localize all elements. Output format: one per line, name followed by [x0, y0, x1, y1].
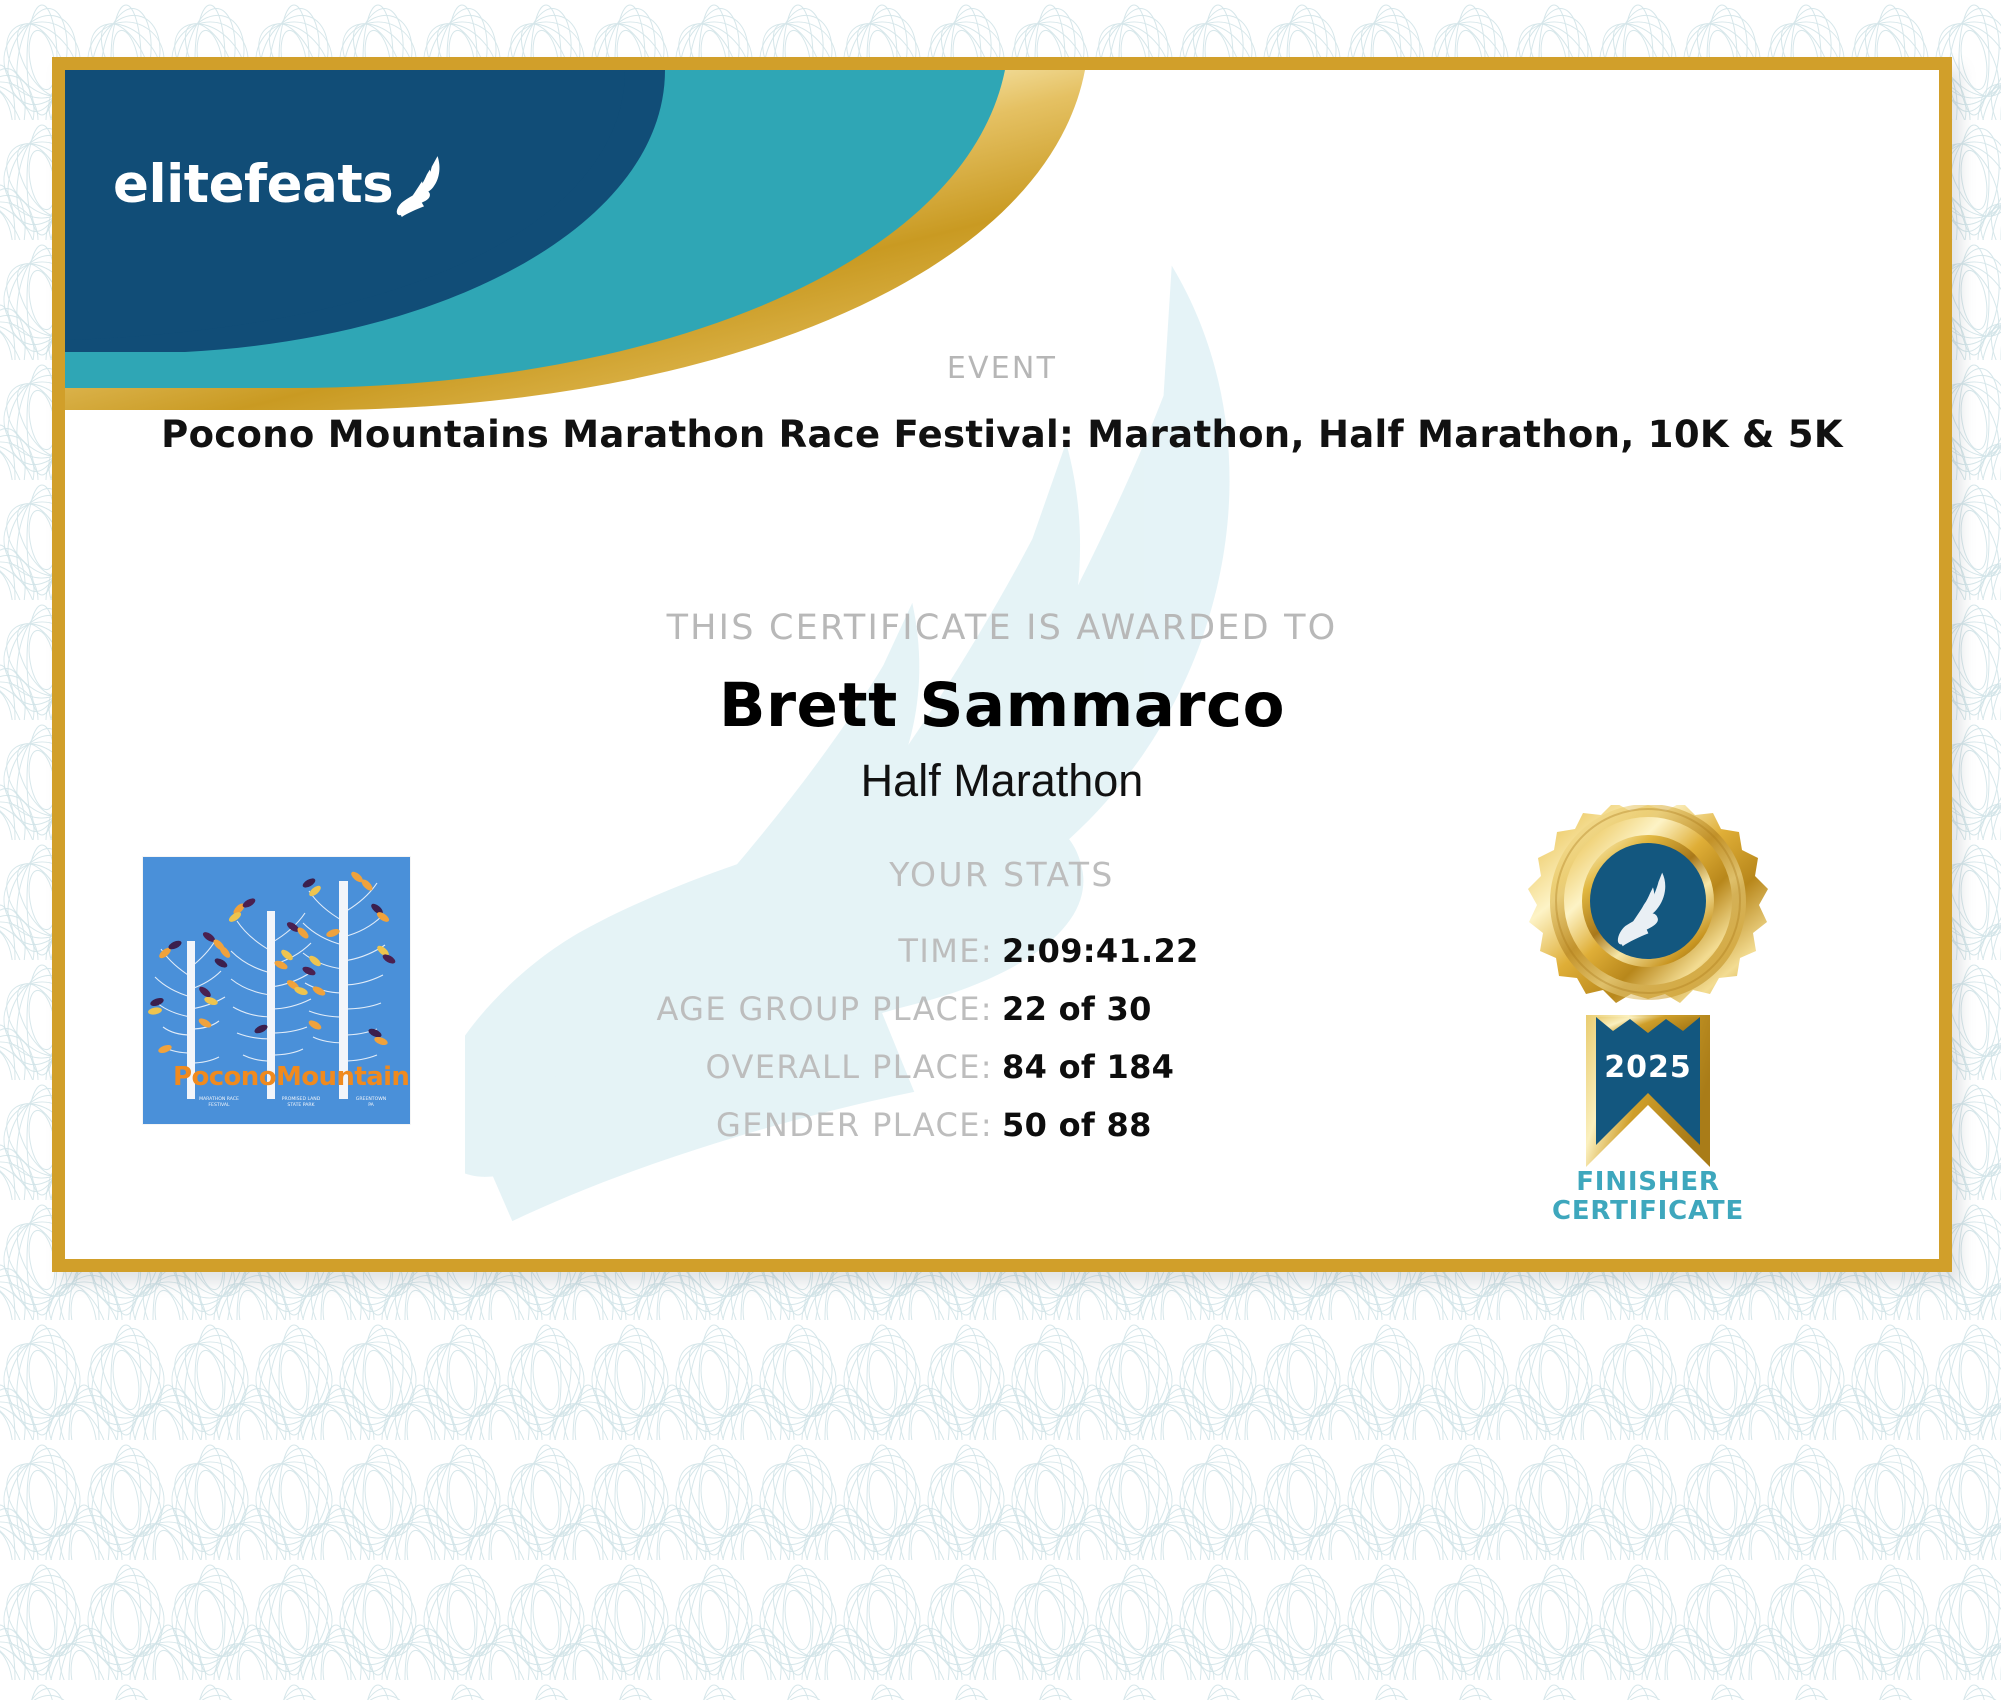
svg-text:GREENTOWN: GREENTOWN: [356, 1096, 386, 1102]
svg-text:PROMISED LAND: PROMISED LAND: [282, 1096, 321, 1102]
certificate-frame: elitefeats EVEN: [52, 57, 1952, 1272]
certificate-page: elitefeats EVEN: [0, 0, 2001, 1700]
brand-logo: elitefeats: [113, 148, 453, 220]
recipient-race-category: Half Marathon: [65, 755, 1939, 807]
brand-name: elitefeats: [113, 158, 393, 211]
badge-caption-line-1: FINISHER: [1495, 1168, 1801, 1197]
finisher-badge: 2025: [1508, 805, 1788, 1205]
svg-text:MARATHON RACE: MARATHON RACE: [199, 1096, 239, 1102]
svg-text:STATE PARK: STATE PARK: [287, 1102, 315, 1108]
svg-text:PoconoMountains: PoconoMountains: [173, 1062, 410, 1092]
event-label: EVENT: [65, 351, 1939, 386]
svg-text:PA: PA: [368, 1102, 374, 1108]
badge-year-text: 2025: [1604, 1050, 1692, 1085]
badge-caption-line-2: CERTIFICATE: [1495, 1197, 1801, 1226]
recipient-name: Brett Sammarco: [65, 670, 1939, 741]
certificate-content: EVENT Pocono Mountains Marathon Race Fes…: [65, 70, 1939, 1259]
svg-text:FESTIVAL: FESTIVAL: [208, 1102, 230, 1108]
awarded-to-label: THIS CERTIFICATE IS AWARDED TO: [65, 608, 1939, 648]
badge-caption: FINISHER CERTIFICATE: [1495, 1168, 1801, 1227]
event-title: Pocono Mountains Marathon Race Festival:…: [65, 413, 1939, 456]
race-event-logo: PoconoMountains MARATHON RACE FESTIVAL P…: [143, 857, 410, 1124]
winged-foot-icon: [395, 154, 453, 220]
